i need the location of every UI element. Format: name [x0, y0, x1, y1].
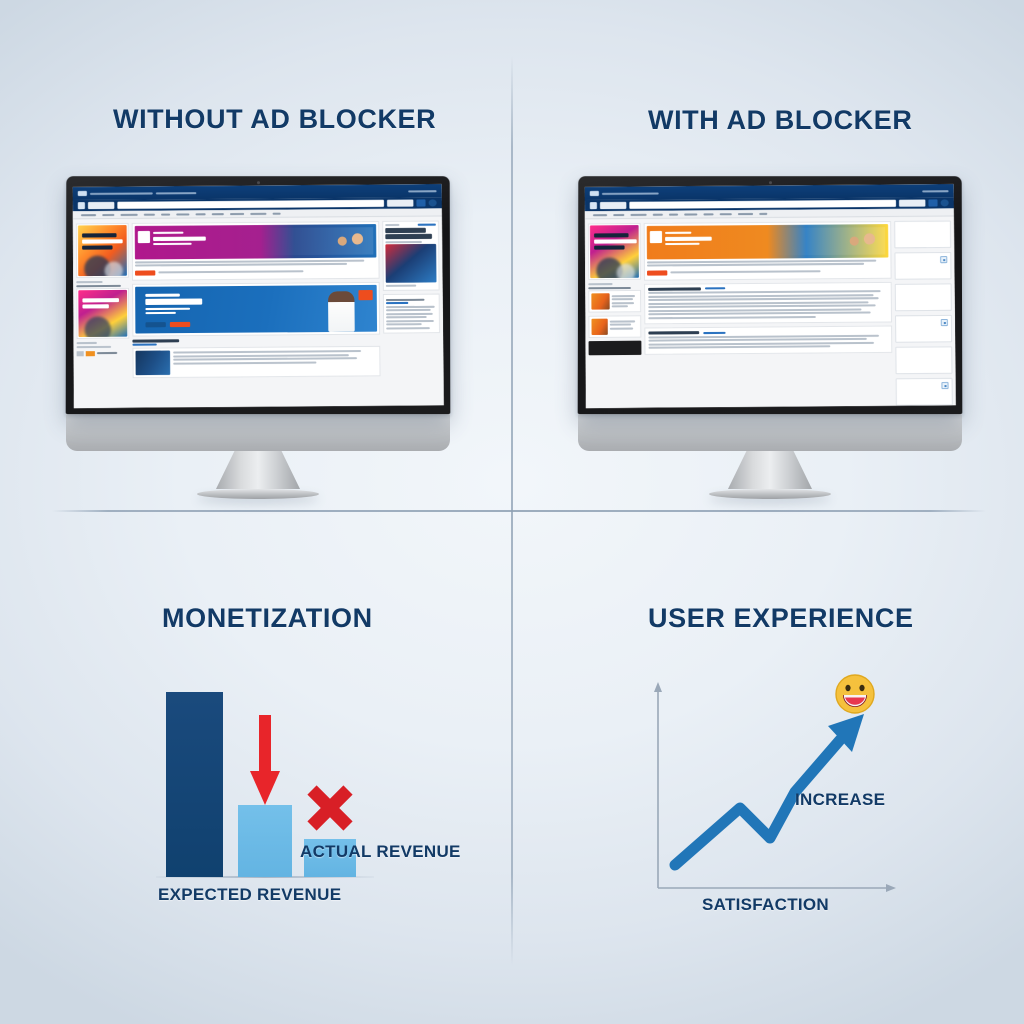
nav-item[interactable]: [81, 214, 96, 216]
left-rail: [76, 223, 130, 381]
search-button[interactable]: [416, 199, 425, 206]
magenta-banner-ad[interactable]: [135, 224, 377, 259]
article-block: [644, 281, 892, 324]
page-body: [585, 216, 956, 408]
nav-item[interactable]: [684, 213, 697, 215]
monitor-chin: [578, 414, 962, 451]
search-input[interactable]: [117, 200, 384, 209]
bar-actual-revenue: [238, 805, 292, 877]
nav-item[interactable]: [720, 213, 732, 215]
right-rail-article[interactable]: [382, 221, 440, 291]
without-ad-blocker-monitor: [66, 176, 450, 466]
hero-cta-secondary[interactable]: [170, 321, 190, 326]
nav-item[interactable]: [613, 214, 624, 216]
blocked-ad-placeholder: [895, 283, 952, 311]
nav-item[interactable]: [759, 212, 767, 214]
nav-item[interactable]: [703, 213, 713, 215]
brand-mark-icon: [590, 202, 597, 209]
nav-item[interactable]: [230, 212, 244, 214]
menu-icon[interactable]: [429, 199, 437, 206]
monitor-bezel: [578, 176, 963, 414]
right-rail-list: [383, 294, 440, 334]
quadrant-title-monetization: MONETIZATION: [162, 603, 373, 634]
quadrant-title-user-experience: USER EXPERIENCE: [648, 603, 914, 634]
category-select[interactable]: [88, 202, 114, 209]
site-logo: [590, 191, 599, 196]
brand-mark-icon: [78, 202, 85, 209]
label-increase: INCREASE: [795, 790, 885, 810]
nav-item[interactable]: [593, 214, 607, 216]
section-heading: [132, 339, 179, 342]
label-satisfaction: SATISFACTION: [702, 895, 829, 915]
nav-item[interactable]: [212, 213, 224, 215]
ad-cta-button[interactable]: [647, 270, 667, 275]
article-teaser[interactable]: [132, 345, 380, 377]
rail-dark-block: [589, 341, 642, 356]
leaderboard-ad-slot[interactable]: [132, 221, 380, 280]
nav-item[interactable]: [250, 212, 266, 214]
ad-cta-button[interactable]: [135, 270, 155, 275]
webcam-icon: [769, 181, 772, 184]
sidebar-ad-slot[interactable]: [588, 223, 641, 280]
left-rail: [588, 223, 642, 408]
blocked-ad-placeholder: [894, 221, 951, 249]
nav-item[interactable]: [653, 213, 663, 215]
nav-item[interactable]: [144, 213, 155, 215]
label-expected-revenue: EXPECTED REVENUE: [158, 885, 341, 905]
nav-item[interactable]: [176, 213, 189, 215]
nav-item[interactable]: [120, 213, 137, 215]
main-column: [132, 221, 381, 381]
menu-icon[interactable]: [941, 199, 949, 206]
page-body: [73, 216, 444, 385]
mock-webpage-with-ads: [73, 184, 444, 408]
sidebar-ad-slot[interactable]: [76, 223, 129, 278]
display-ad-creative-2[interactable]: [78, 290, 127, 337]
rail-thumbnail: [591, 293, 609, 309]
article-block: [644, 325, 892, 354]
nav-item[interactable]: [273, 212, 281, 214]
monitor-bezel: [66, 176, 451, 414]
label-actual-revenue: ACTUAL REVENUE: [300, 842, 461, 862]
infographic-canvas: WITHOUT AD BLOCKER WITH AD BLOCKER MONET…: [0, 0, 1024, 1024]
quadrant-title-without-ad-blocker: WITHOUT AD BLOCKER: [113, 104, 436, 135]
with-ad-blocker-monitor: [578, 176, 962, 466]
right-rail-blocked: [894, 221, 953, 409]
topbar-link[interactable]: [156, 192, 197, 194]
nav-item[interactable]: [669, 213, 678, 215]
site-logo: [78, 191, 87, 196]
horizontal-divider: [52, 510, 986, 512]
red-cross-icon: [305, 783, 355, 833]
blocked-ad-placeholder: [895, 315, 952, 343]
leaderboard-ad-slot[interactable]: [644, 221, 892, 280]
rail-teaser[interactable]: [588, 290, 641, 313]
monitor-stand-base: [197, 489, 319, 499]
search-button[interactable]: [928, 199, 937, 206]
rail-teaser[interactable]: [588, 315, 641, 338]
nav-item[interactable]: [161, 213, 170, 215]
webcam-icon: [257, 181, 260, 184]
topbar-account-link[interactable]: [408, 190, 436, 192]
main-column: [644, 221, 893, 408]
mock-webpage-ads-blocked: [585, 184, 956, 408]
topbar-account-link[interactable]: [922, 190, 948, 192]
rail-caption: [76, 281, 102, 283]
monitor-stand-base: [709, 489, 831, 499]
blocked-ad-placeholder: [894, 252, 951, 280]
rail-heading: [76, 284, 121, 286]
broken-image-icon: [940, 256, 947, 263]
user-experience-line-chart: INCREASE SATISFACTION: [640, 660, 940, 930]
nav-item[interactable]: [738, 213, 753, 215]
ad-badge: [358, 290, 372, 300]
rail-thumbnail: [591, 319, 607, 335]
hero-cta-primary[interactable]: [145, 322, 165, 327]
blocked-ad-placeholder: [896, 378, 953, 406]
monitor-screen-with-ads: [73, 184, 444, 408]
nav-item[interactable]: [102, 213, 114, 215]
blocked-ad-placeholder: [895, 346, 952, 374]
right-rail-display-ad[interactable]: [385, 244, 436, 283]
quadrant-title-with-ad-blocker: WITH AD BLOCKER: [648, 105, 912, 136]
topbar-link[interactable]: [90, 192, 153, 195]
line-chart-svg: [640, 660, 940, 930]
location-input[interactable]: [899, 200, 925, 207]
monitor-screen-ads-blocked: [585, 184, 956, 408]
blue-hero-banner-ad[interactable]: [135, 284, 377, 333]
hero-ad-slot[interactable]: [132, 281, 380, 336]
nav-item[interactable]: [630, 213, 646, 215]
display-ad-creative[interactable]: [590, 225, 639, 278]
broken-image-icon: [941, 382, 948, 389]
display-ad-creative[interactable]: [78, 225, 127, 276]
nav-item[interactable]: [195, 213, 205, 215]
broken-image-icon: [941, 319, 948, 326]
monitor-stand-neck: [728, 451, 812, 489]
location-input[interactable]: [387, 200, 413, 207]
topbar-link[interactable]: [602, 192, 659, 194]
orange-banner-ad[interactable]: [647, 224, 889, 259]
monetization-bar-chart: EXPECTED REVENUE ACTUAL REVENUE: [140, 660, 480, 930]
category-select[interactable]: [600, 202, 626, 209]
section-link[interactable]: [132, 344, 156, 346]
smiley-face-icon: [834, 673, 876, 715]
monitor-chin: [66, 414, 450, 451]
monitor-stand-neck: [216, 451, 300, 489]
search-input[interactable]: [629, 200, 896, 209]
sidebar-ad-slot-2[interactable]: [76, 288, 129, 339]
right-rail: [382, 221, 440, 379]
article-thumbnail: [136, 350, 171, 375]
bar-expected-revenue: [166, 692, 223, 877]
red-down-arrow-icon: [248, 715, 282, 807]
